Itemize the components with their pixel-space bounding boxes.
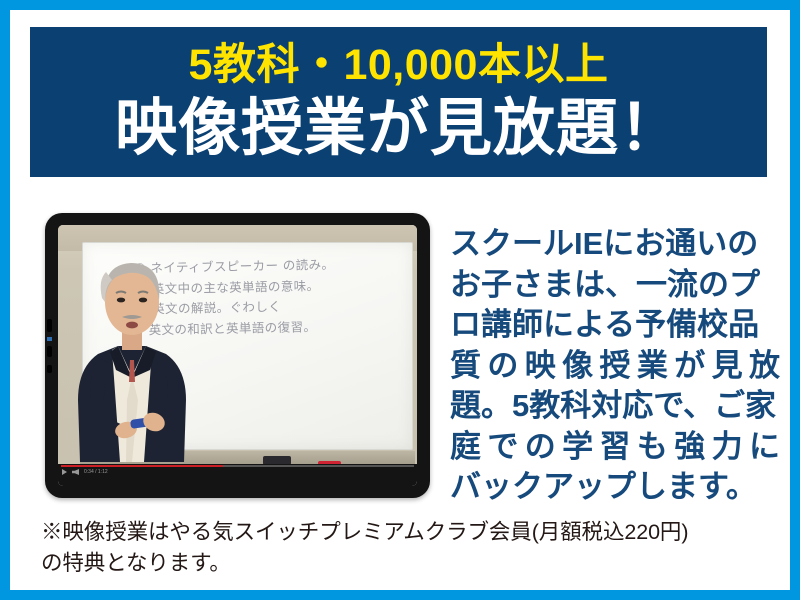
headline-title: 映像授業が見放題！	[30, 90, 767, 166]
advertisement-inner-panel: 5教科・10,000本以上 映像授業が見放題！ ① ネイティブスピーカー の読み…	[10, 10, 790, 590]
body-copy-line: 庭 で の 学 習 も 強 力 に	[450, 427, 780, 468]
footnote-line: の特典となります。	[41, 548, 776, 579]
tablet-body: ① ネイティブスピーカー の読み。 ② 英文中の主な英単語の意味。 ③ 英文の解…	[45, 213, 430, 498]
footnote: ※映像授業はやる気スイッチプレミアムクラブ会員(月額税込220円) の特典となり…	[41, 517, 776, 579]
body-copy-char: に	[749, 427, 780, 468]
teacher-figure	[72, 250, 192, 462]
body-copy-line: 質 の 映 像 授 業 が 見 放	[450, 346, 780, 387]
volume-icon[interactable]	[72, 469, 79, 475]
body-copy-char: の	[487, 346, 518, 387]
body-copy-char: 質	[450, 346, 481, 387]
tablet-indicator-light	[47, 337, 52, 341]
body-copy-char: 力	[712, 427, 743, 468]
body-copy-char: が	[674, 346, 705, 387]
body-copy-char: 業	[637, 346, 668, 387]
body-copy-line: ロ講師による予備校品	[450, 305, 780, 346]
tablet-power-button[interactable]	[47, 319, 52, 332]
body-copy-char: 放	[749, 346, 780, 387]
video-frame: ① ネイティブスピーカー の読み。 ② 英文中の主な英単語の意味。 ③ 英文の解…	[58, 225, 417, 486]
advertisement-root: 5教科・10,000本以上 映像授業が見放題！ ① ネイティブスピーカー の読み…	[0, 0, 800, 600]
body-copy: スクールIEにお通いの お子さまは、一流のプ ロ講師による予備校品 質 の 映 …	[450, 224, 780, 508]
body-copy-char: 学	[562, 427, 593, 468]
body-copy-char: 授	[600, 346, 631, 387]
video-time-label: 0:34 / 1:12	[84, 469, 108, 475]
headline-subtitle: 5教科・10,000本以上	[30, 27, 767, 90]
body-copy-char: も	[637, 427, 668, 468]
body-copy-line: 題。5教科対応で、ご家	[450, 386, 780, 427]
body-copy-char: 映	[525, 346, 556, 387]
body-copy-char: で	[487, 427, 518, 468]
body-copy-char: の	[525, 427, 556, 468]
body-copy-char: 像	[562, 346, 593, 387]
body-copy-char: 強	[674, 427, 705, 468]
tablet-video-figure: ① ネイティブスピーカー の読み。 ② 英文中の主な英単語の意味。 ③ 英文の解…	[45, 213, 430, 498]
body-copy-line: スクールIEにお通いの	[450, 224, 780, 265]
tablet-screen: ① ネイティブスピーカー の読み。 ② 英文中の主な英単語の意味。 ③ 英文の解…	[58, 225, 417, 486]
body-copy-char: 見	[712, 346, 743, 387]
footnote-line: ※映像授業はやる気スイッチプレミアムクラブ会員(月額税込220円)	[41, 517, 776, 548]
body-copy-char: 習	[600, 427, 631, 468]
play-icon[interactable]	[62, 469, 67, 475]
video-player-bar[interactable]: 0:34 / 1:12	[58, 464, 417, 486]
tablet-volume-down-button[interactable]	[47, 365, 52, 373]
video-player-controls: 0:34 / 1:12	[62, 469, 108, 475]
body-copy-line: バックアップします。	[450, 467, 780, 508]
video-progress-scrubber[interactable]	[61, 465, 414, 467]
tablet-volume-up-button[interactable]	[47, 346, 52, 357]
body-copy-char: 庭	[450, 427, 481, 468]
video-progress-fill	[61, 465, 223, 467]
header-banner: 5教科・10,000本以上 映像授業が見放題！	[30, 27, 767, 177]
body-copy-line: お子さまは、一流のプ	[450, 265, 780, 306]
